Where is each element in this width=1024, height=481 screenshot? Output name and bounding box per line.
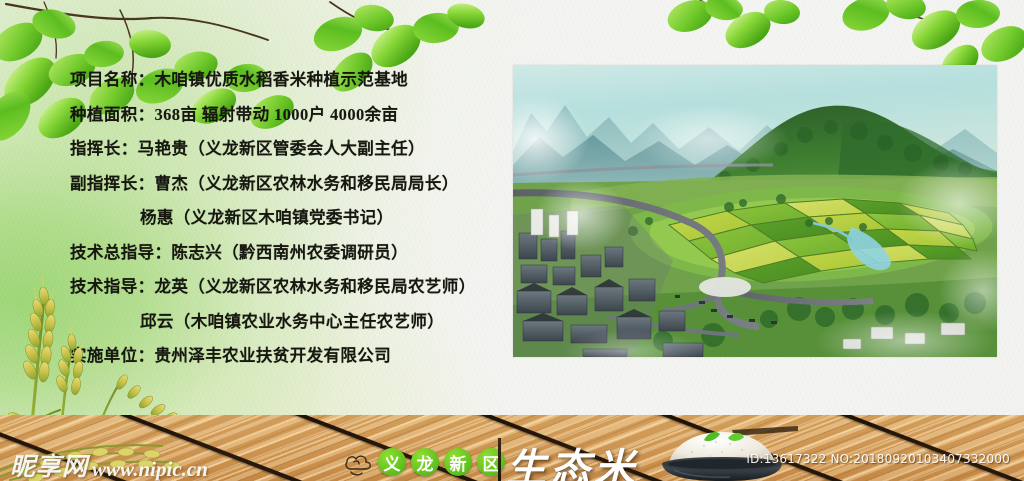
info-line: 项目名称：木咱镇优质水稻香米种植示范基地 — [70, 63, 515, 98]
info-line: 副指挥长：曹杰（义龙新区农林水务和移民局局长） — [70, 167, 515, 202]
badge-char: 新 — [444, 448, 472, 476]
info-line: 种植面积：368亩 辐射带动 1000户 4000余亩 — [70, 98, 515, 133]
calligraphy-title: 生态米 — [506, 436, 638, 481]
info-line: 指挥长：马艳贵（义龙新区管委会人大副主任） — [70, 132, 515, 167]
yilong-new-district-badges: 义 龙 新 区 — [378, 448, 505, 476]
badge-char: 义 — [378, 448, 406, 476]
rice-stalk-foreground-icon — [0, 398, 230, 481]
auspicious-cloud-icon — [343, 450, 377, 478]
vertical-divider — [498, 438, 501, 481]
badge-char: 龙 — [411, 448, 439, 476]
info-line: 杨惠（义龙新区木咱镇党委书记） — [70, 201, 515, 236]
stock-id-stamp: ID:13617322 NO:20180920103407332000 — [746, 452, 1010, 466]
poster-canvas: 项目名称：木咱镇优质水稻香米种植示范基地 种植面积：368亩 辐射带动 1000… — [0, 0, 1024, 481]
aerial-landscape-photo — [513, 65, 997, 357]
